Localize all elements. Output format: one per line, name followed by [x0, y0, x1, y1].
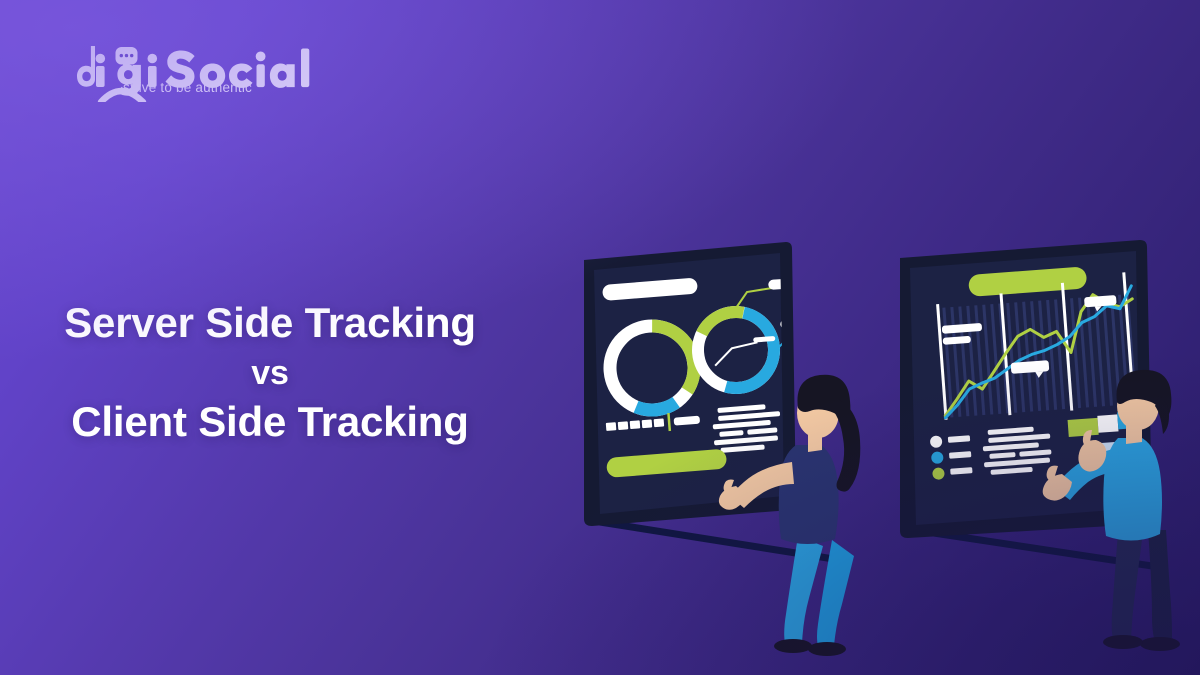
headline-line-1: Server Side Tracking	[0, 296, 540, 351]
brand-logo[interactable]: strive to be authentic	[40, 30, 320, 102]
headline-line-2: vs	[0, 351, 540, 395]
slide-canvas: strive to be authentic Server Side Track…	[0, 0, 1200, 675]
headline-line-3: Client Side Tracking	[0, 395, 540, 450]
brand-tagline: strive to be authentic	[123, 80, 252, 95]
illustration	[540, 230, 1200, 675]
page-title: Server Side Tracking vs Client Side Trac…	[0, 296, 540, 449]
chart-legend	[930, 433, 973, 480]
